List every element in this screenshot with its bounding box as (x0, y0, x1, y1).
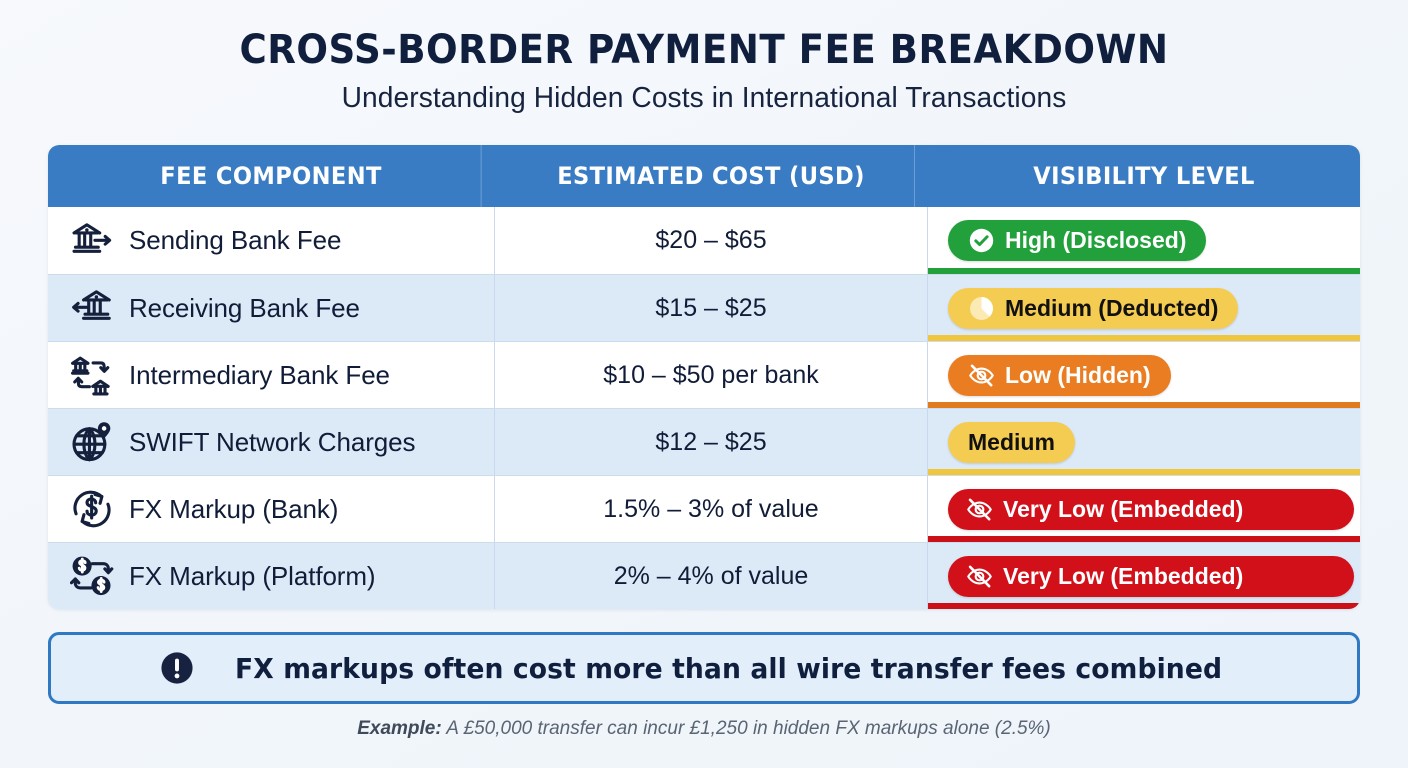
fee-component-cell: Receiving Bank Fee (48, 275, 495, 341)
status-badge: Very Low (Embedded) (948, 556, 1354, 597)
coins-exchange-icon (69, 553, 115, 599)
table-row: FX Markup (Bank)1.5% – 3% of value Very … (48, 475, 1360, 542)
estimated-cost-cell: 2% – 4% of value (495, 543, 928, 609)
status-badge-label: High (Disclosed) (1005, 227, 1186, 254)
bank-transfer-icon (69, 352, 115, 398)
table-row: Sending Bank Fee$20 – $65 High (Disclose… (48, 207, 1360, 274)
estimated-cost-cell: $15 – $25 (495, 275, 928, 341)
estimated-cost-cell: $10 – $50 per bank (495, 342, 928, 408)
table-header-row: FEE COMPONENT ESTIMATED COST (USD) VISIB… (48, 145, 1360, 207)
visibility-level-cell: High (Disclosed) (928, 207, 1360, 274)
estimated-cost-cell: $20 – $65 (495, 207, 928, 274)
currency-exchange-icon (69, 486, 115, 532)
fee-component-label: Receiving Bank Fee (129, 293, 360, 324)
eye-off-icon (966, 563, 993, 590)
status-badge-label: Medium (Deducted) (1005, 295, 1218, 322)
check-circle-icon (968, 227, 995, 254)
fee-component-cell: SWIFT Network Charges (48, 409, 495, 475)
table-row: FX Markup (Platform)2% – 4% of value Ver… (48, 542, 1360, 609)
fee-component-cell: Sending Bank Fee (48, 207, 495, 274)
globe-pin-icon (69, 419, 115, 465)
fee-component-label: SWIFT Network Charges (129, 427, 415, 458)
visibility-level-cell: Very Low (Embedded) (928, 476, 1360, 542)
callout-banner: FX markups often cost more than all wire… (48, 632, 1360, 704)
bank-send-icon (69, 218, 115, 264)
column-header-fee-component: FEE COMPONENT (61, 145, 481, 207)
estimated-cost-cell: $12 – $25 (495, 409, 928, 475)
exclamation-circle-icon (160, 651, 194, 685)
visibility-level-cell: Medium (928, 409, 1360, 475)
status-badge-label: Medium (968, 429, 1055, 456)
page-title: CROSS-BORDER PAYMENT FEE BREAKDOWN (49, 27, 1358, 73)
fee-table: FEE COMPONENT ESTIMATED COST (USD) VISIB… (48, 145, 1360, 609)
footnote: Example: A £50,000 transfer can incur £1… (0, 718, 1408, 740)
status-badge: Medium (Deducted) (948, 288, 1238, 329)
table-row: Intermediary Bank Fee$10 – $50 per bank … (48, 341, 1360, 408)
status-badge: Very Low (Embedded) (948, 489, 1354, 530)
status-badge: Low (Hidden) (948, 355, 1171, 396)
status-badge-label: Very Low (Embedded) (1003, 496, 1243, 523)
visibility-level-cell: Low (Hidden) (928, 342, 1360, 408)
callout-text: FX markups often cost more than all wire… (235, 652, 1222, 685)
visibility-level-cell: Very Low (Embedded) (928, 543, 1360, 609)
visibility-level-cell: Medium (Deducted) (928, 275, 1360, 341)
estimated-cost-cell: 1.5% – 3% of value (495, 476, 928, 542)
eye-off-icon (966, 496, 993, 523)
footnote-label: Example: (357, 718, 441, 739)
table-body: Sending Bank Fee$20 – $65 High (Disclose… (48, 207, 1360, 609)
fee-component-cell: FX Markup (Bank) (48, 476, 495, 542)
fee-component-label: FX Markup (Platform) (129, 561, 376, 592)
column-header-visibility-level: VISIBILITY LEVEL (941, 145, 1347, 207)
fee-component-cell: FX Markup (Platform) (48, 543, 495, 609)
header-block: CROSS-BORDER PAYMENT FEE BREAKDOWN Under… (0, 0, 1408, 115)
status-badge: Medium (948, 422, 1075, 463)
table-row: Receiving Bank Fee$15 – $25 Medium (Dedu… (48, 274, 1360, 341)
infographic-page: CROSS-BORDER PAYMENT FEE BREAKDOWN Under… (0, 0, 1408, 768)
status-badge: High (Disclosed) (948, 220, 1206, 261)
footnote-text: A £50,000 transfer can incur £1,250 in h… (442, 718, 1051, 739)
page-subtitle: Understanding Hidden Costs in Internatio… (21, 82, 1387, 115)
eye-off-icon (968, 362, 995, 389)
fee-component-label: Intermediary Bank Fee (129, 360, 390, 391)
column-header-estimated-cost: ESTIMATED COST (USD) (508, 145, 915, 207)
bank-receive-icon (69, 285, 115, 331)
pie-half-icon (968, 295, 995, 322)
status-badge-label: Very Low (Embedded) (1003, 563, 1243, 590)
status-badge-label: Low (Hidden) (1005, 362, 1151, 389)
fee-component-label: Sending Bank Fee (129, 225, 341, 256)
visibility-accent-bar (928, 603, 1360, 609)
table-row: SWIFT Network Charges$12 – $25Medium (48, 408, 1360, 475)
fee-component-label: FX Markup (Bank) (129, 494, 338, 525)
fee-component-cell: Intermediary Bank Fee (48, 342, 495, 408)
